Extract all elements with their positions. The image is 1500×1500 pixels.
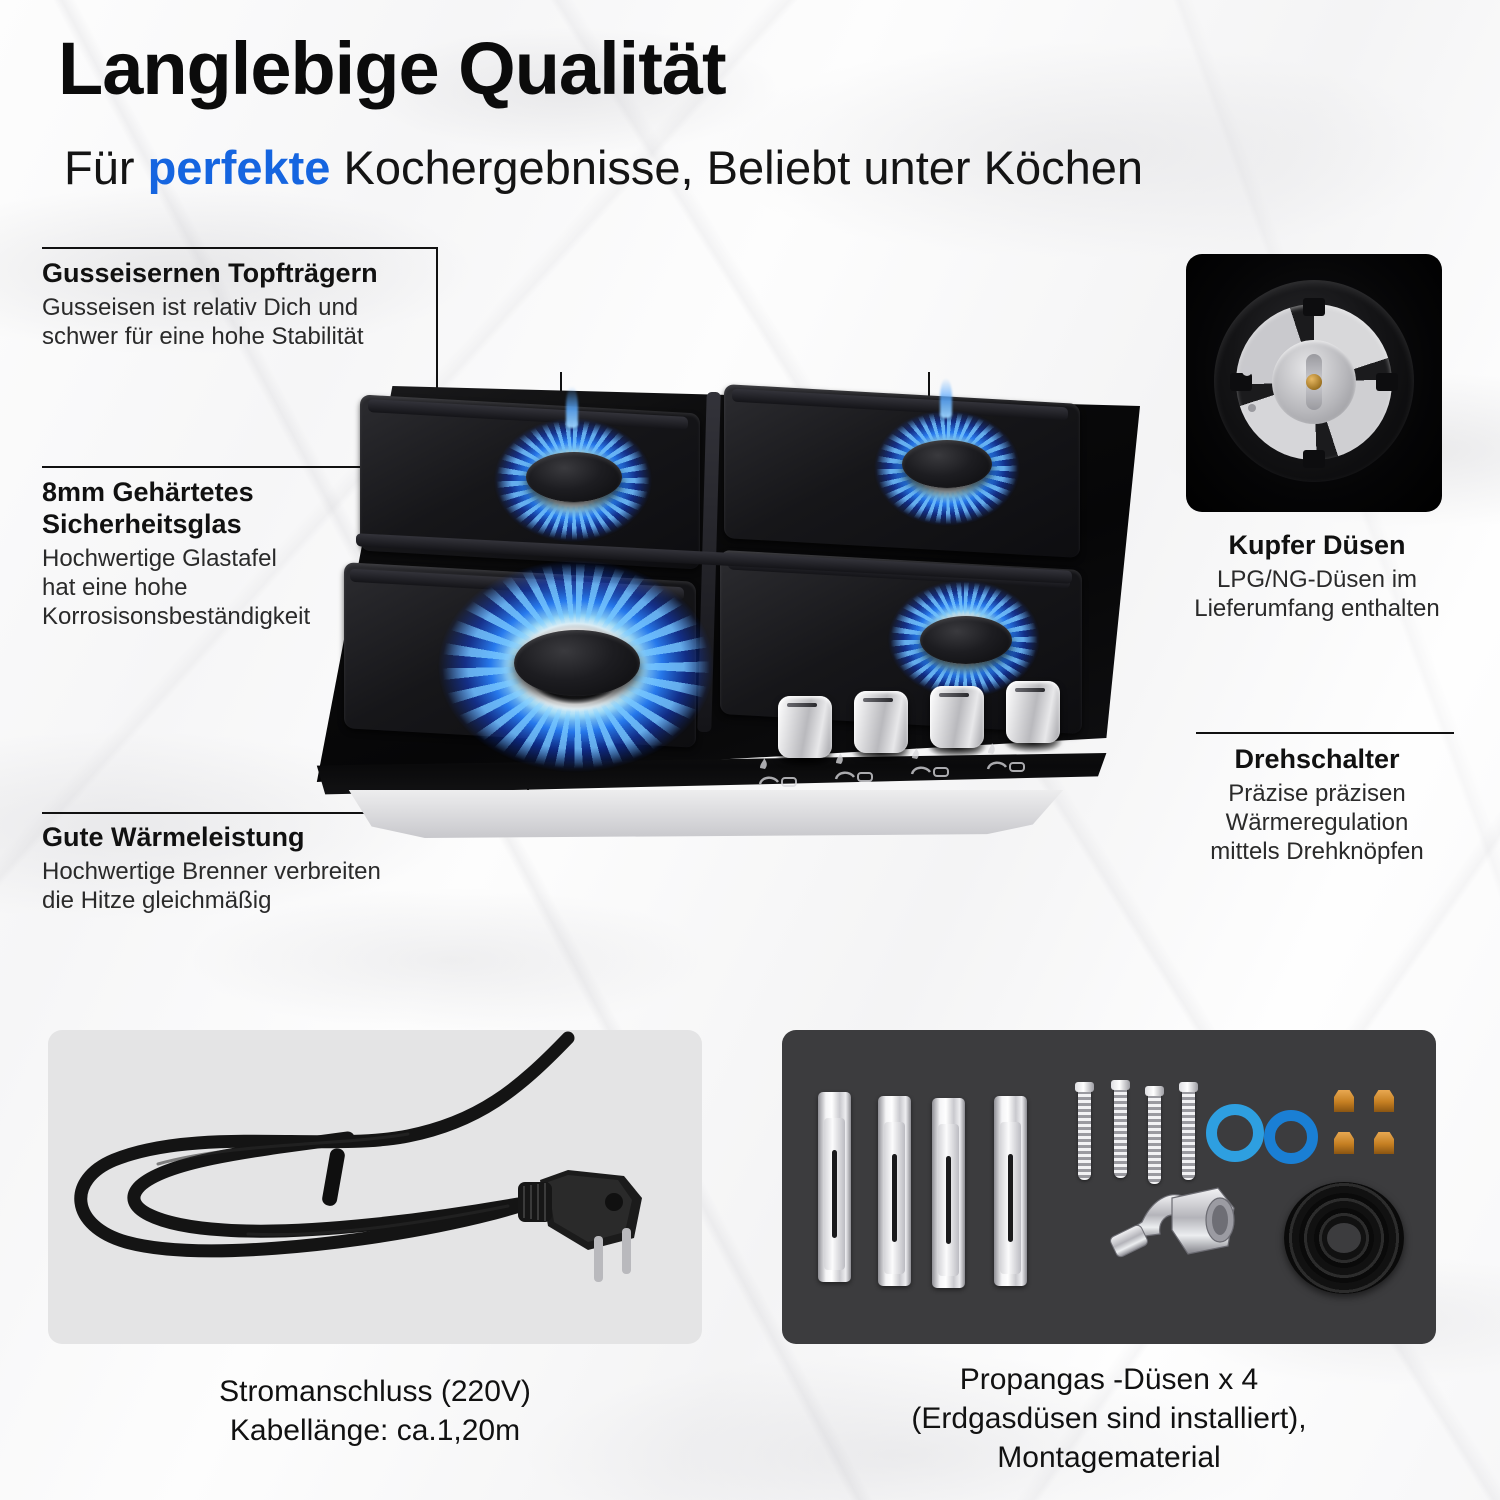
control-knob-3[interactable] <box>930 686 984 748</box>
burner-thermocouple-icon <box>1248 404 1256 412</box>
screw <box>1148 1092 1161 1184</box>
power-cord-image <box>48 1030 702 1344</box>
burner-center-screw <box>1306 374 1322 390</box>
acc-caption-line-2: (Erdgasdüsen sind installiert), <box>782 1399 1436 1438</box>
burner-back-left <box>478 406 668 566</box>
flame-symbol-icon <box>904 748 950 780</box>
flame-tip <box>566 386 578 428</box>
control-knob-1[interactable] <box>778 696 832 758</box>
callout-knobs-body-1: Präzise präzisen <box>1172 779 1462 808</box>
o-ring <box>1264 1110 1318 1164</box>
cord-caption-line-2: Kabellänge: ca.1,20m <box>48 1411 702 1450</box>
mounting-clip <box>932 1098 965 1288</box>
page-subtitle: Für perfekte Kochergebnisse, Beliebt unt… <box>64 140 1143 195</box>
callout-heat-body-2: die Hitze gleichmäßig <box>42 886 472 915</box>
callout-cast-iron-title: Gusseisernen Topfträgern <box>42 258 462 290</box>
page-title: Langlebige Qualität <box>58 26 726 111</box>
burner-closeup-inset <box>1186 254 1442 512</box>
callout-rotary-switch: Drehschalter Präzise präzisen Wärmeregul… <box>1172 744 1462 867</box>
flame-symbol-icon <box>828 753 874 785</box>
acc-caption-line-1: Propangas -Düsen x 4 <box>782 1360 1436 1399</box>
burner-back-right <box>852 396 1042 556</box>
burner-front-left <box>428 546 728 796</box>
burner-tab-bottom <box>1303 450 1325 468</box>
copper-nozzle <box>1374 1132 1394 1154</box>
subtitle-post: Kochergebnisse, Beliebt unter Köchen <box>330 141 1143 194</box>
callout-copper-body-1: LPG/NG-Düsen im <box>1172 565 1462 594</box>
callout-cast-iron-body-1: Gusseisen ist relativ Dich und <box>42 293 462 322</box>
control-knob-4[interactable] <box>1006 681 1060 743</box>
accessories-caption: Propangas -Düsen x 4 (Erdgasdüsen sind i… <box>782 1360 1436 1477</box>
copper-nozzle <box>1374 1090 1394 1112</box>
mounting-clip <box>994 1096 1027 1286</box>
burner-tab-right <box>1376 373 1398 391</box>
screw <box>1078 1088 1091 1180</box>
leader-line-knobs <box>1196 732 1454 734</box>
subtitle-pre: Für <box>64 141 148 194</box>
screw <box>1114 1086 1127 1178</box>
leader-line-cast-iron-h <box>42 247 438 249</box>
callout-copper-body-2: Lieferumfang enthalten <box>1172 594 1462 623</box>
callout-cast-iron: Gusseisernen Topfträgern Gusseisen ist r… <box>42 258 462 351</box>
burner-tab-top <box>1303 298 1325 316</box>
callout-copper-title: Kupfer Düsen <box>1172 530 1462 562</box>
power-cord-caption: Stromanschluss (220V) Kabellänge: ca.1,2… <box>48 1372 702 1450</box>
callout-heat-body-1: Hochwertige Brenner verbreiten <box>42 857 472 886</box>
copper-nozzle <box>1334 1090 1354 1112</box>
callout-cast-iron-body-2: schwer für eine hohe Stabilität <box>42 322 462 351</box>
subtitle-accent: perfekte <box>148 141 331 194</box>
burner-cap <box>526 452 622 502</box>
elbow-fitting <box>1108 1178 1244 1270</box>
accessories-panel <box>782 1030 1436 1344</box>
o-ring <box>1206 1104 1264 1162</box>
flame-symbol-icon <box>752 758 798 790</box>
mounting-clip <box>878 1096 911 1286</box>
screw <box>1182 1088 1195 1180</box>
product-infographic: Langlebige Qualität Für perfekte Kocherg… <box>0 0 1500 1500</box>
callout-heat-output: Gute Wärmeleistung Hochwertige Brenner v… <box>42 822 472 915</box>
callout-knobs-title: Drehschalter <box>1172 744 1462 776</box>
power-cord-svg <box>48 1030 702 1344</box>
cord-caption-line-1: Stromanschluss (220V) <box>48 1372 702 1411</box>
cooktop-metal-base <box>326 790 1086 838</box>
burner-cap <box>514 630 640 696</box>
mounting-clip <box>818 1092 851 1282</box>
callout-knobs-body-3: mittels Drehknöpfen <box>1172 837 1462 866</box>
acc-caption-line-3: Montagematerial <box>782 1438 1436 1477</box>
burner-cap <box>902 440 992 488</box>
gas-cooktop <box>300 386 1140 836</box>
callout-knobs-body-2: Wärmeregulation <box>1172 808 1462 837</box>
copper-nozzle <box>1334 1132 1354 1154</box>
schuko-plug <box>518 1170 642 1282</box>
sealing-hose-coil <box>1284 1182 1404 1294</box>
burner-cap <box>920 616 1012 664</box>
callout-copper-nozzles: Kupfer Düsen LPG/NG-Düsen im Lieferumfan… <box>1172 530 1462 623</box>
flame-symbol-icon <box>980 743 1026 775</box>
control-knob-2[interactable] <box>854 691 908 753</box>
flame-tip <box>940 378 952 418</box>
burner-igniter-icon <box>1242 366 1252 376</box>
